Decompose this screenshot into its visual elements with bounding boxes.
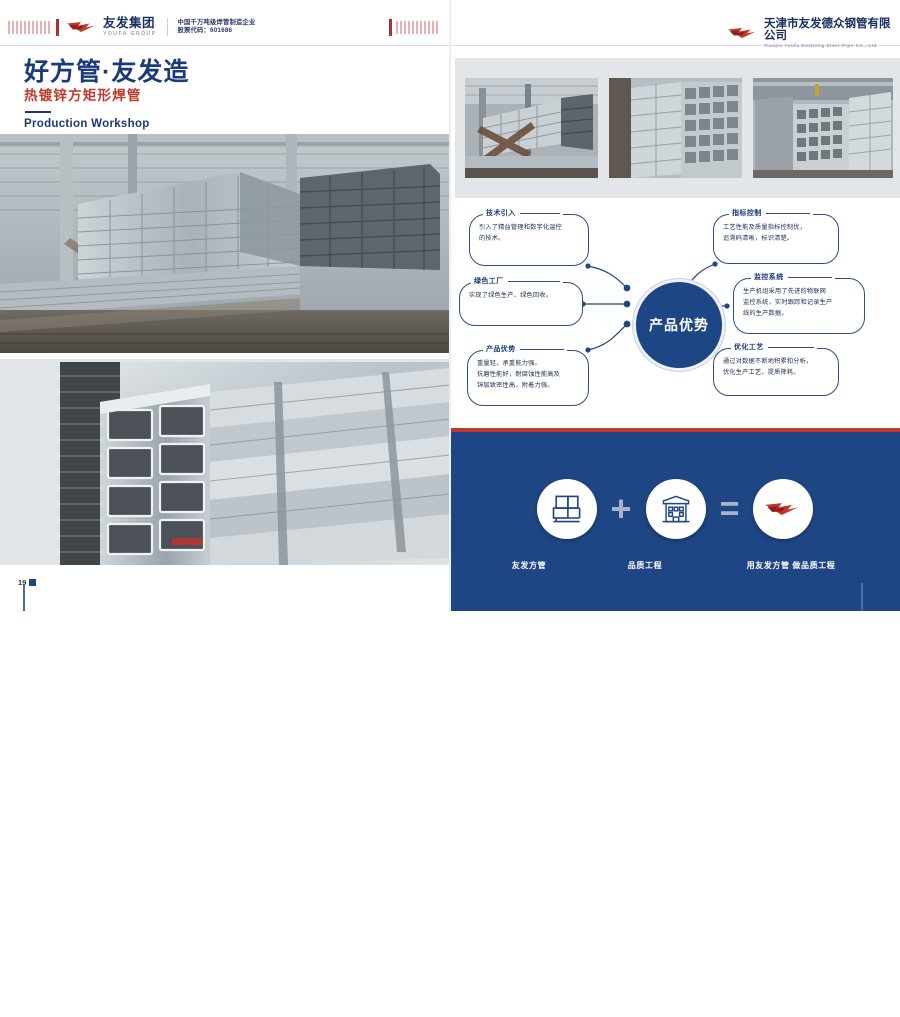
diagram-node-index: 工艺性能及质量指标控制优， 追溯码清晰，标识清楚。 指标控制 xyxy=(713,214,839,264)
swatch-bar-left xyxy=(56,19,59,36)
diagram-node-monitor: 生产机组采用了先进的物联网 监控系统，实时跟踪和记录生产 线的生产数据。 监控系… xyxy=(733,278,865,334)
subsidiary-logo: 天津市友发德众钢管有限公司 Tianjin Youfa Dezhong Stee… xyxy=(727,18,900,49)
youfa-wing-icon xyxy=(66,19,98,35)
caption-rule xyxy=(766,213,810,214)
diagram-node-optimize-caption: 优化工艺 xyxy=(731,342,817,352)
diagram-node-optimize: 通过对数据不断地积累和分析， 优化生产工艺，提质降耗。 优化工艺 xyxy=(713,348,839,396)
caption-rule xyxy=(508,281,560,282)
diagram-node-green-caption: 绿色工厂 xyxy=(471,276,563,286)
youfa-logo-circle xyxy=(753,479,813,539)
header-rule-left xyxy=(0,45,450,46)
page-number-left-marker xyxy=(29,579,36,586)
diagram-node-monitor-body: 生产机组采用了先进的物联网 监控系统，实时跟踪和记录生产 线的生产数据。 xyxy=(733,278,865,334)
diagram-node-advantage-title: 产品优势 xyxy=(486,344,516,354)
page-number-right-stem xyxy=(861,583,863,611)
caption-rule xyxy=(520,213,560,214)
diagram-node-monitor-line-3: 线的生产数据。 xyxy=(743,309,855,320)
diagram-node-advantage-line-3: 锌层致密性高，附着力强。 xyxy=(477,381,579,392)
strip-photo-3 xyxy=(753,78,893,178)
diagram-node-monitor-line-1: 生产机组采用了先进的物联网 xyxy=(743,287,855,298)
headline-primary: 好方管·友发造 xyxy=(24,58,189,86)
spread-spine xyxy=(449,0,451,611)
slogan-caption-row: 友发方管 品质工程 用友发方管 做品质工程 xyxy=(450,560,900,571)
slogan-label-2: 品质工程 xyxy=(615,560,675,571)
left-header: 友发集团 YOUFA GROUP 中国千万吨级焊管制造企业 股票代码：60168… xyxy=(0,0,450,46)
strip-photo-2 xyxy=(609,78,742,178)
diagram-node-optimize-line-1: 通过对数据不断地积累和分析， xyxy=(723,357,829,368)
diagram-node-optimize-title: 优化工艺 xyxy=(734,342,764,352)
product-advantage-diagram: 产品优势 引入了精益管理和数字化温控 的技术。 技术引入 实现了绿色生产、绿色回… xyxy=(455,200,900,422)
main-workshop-photo xyxy=(0,134,450,353)
color-swatch-right xyxy=(396,21,440,34)
tagline-line-2: 股票代码：601686 xyxy=(178,27,256,35)
brand-name-cn: 友发集团 xyxy=(103,17,157,30)
page-number-left-stem xyxy=(23,585,25,611)
headline-rule xyxy=(25,111,51,113)
diagram-node-tech-title: 技术引入 xyxy=(486,208,516,218)
youfa-group-logo: 友发集团 YOUFA GROUP 中国千万吨级焊管制造企业 股票代码：60168… xyxy=(66,17,256,37)
left-page: 友发集团 YOUFA GROUP 中国千万吨级焊管制造企业 股票代码：60168… xyxy=(0,0,450,611)
tagline-line-1: 中国千万吨级焊管制造企业 xyxy=(178,19,256,27)
diagram-node-advantage: 重量轻，承重能力强。 抗磨性能好，耐腐蚀性能高及 锌层致密性高，附着力强。 产品… xyxy=(467,350,589,406)
diagram-node-monitor-line-2: 监控系统，实时跟踪和记录生产 xyxy=(743,298,855,309)
diagram-node-advantage-caption: 产品优势 xyxy=(483,344,567,354)
brand-name-en: YOUFA GROUP xyxy=(103,32,157,37)
logo-divider xyxy=(167,18,168,36)
diagram-node-tech-body: 引入了精益管理和数字化温控 的技术。 xyxy=(469,214,589,266)
diagram-node-advantage-line-2: 抗磨性能好，耐腐蚀性能高及 xyxy=(477,370,579,381)
slogan-band: + = xyxy=(450,432,900,611)
diagram-center-label: 产品优势 xyxy=(649,315,709,335)
diagram-node-index-body: 工艺性能及质量指标控制优， 追溯码清晰，标识清楚。 xyxy=(713,214,839,264)
square-tube-icon-circle xyxy=(537,479,597,539)
diagram-node-index-caption: 指标控制 xyxy=(729,208,813,218)
slogan-label-3: 用友发方管 做品质工程 xyxy=(731,560,851,571)
strip-photo-1 xyxy=(465,78,598,178)
caption-rule xyxy=(520,349,564,350)
diagram-node-tech-caption: 技术引入 xyxy=(483,208,563,218)
headline-secondary: 热镀锌方矩形焊管 xyxy=(24,89,189,104)
building-icon xyxy=(658,491,694,527)
slogan-label-1: 友发方管 xyxy=(499,560,559,571)
diagram-node-green: 实现了绿色生产、绿色回收。 绿色工厂 xyxy=(459,282,583,326)
diagram-node-tech-line-1: 引入了精益管理和数字化温控 xyxy=(479,223,579,234)
diagram-node-tech: 引入了精益管理和数字化温控 的技术。 技术引入 xyxy=(469,214,589,266)
diagram-node-index-title: 指标控制 xyxy=(732,208,762,218)
caption-rule xyxy=(768,347,814,348)
diagram-node-index-line-2: 追溯码清晰，标识清楚。 xyxy=(723,234,829,245)
header-tagline: 中国千万吨级焊管制造企业 股票代码：601686 xyxy=(178,19,256,35)
page-title: 好方管·友发造 热镀锌方矩形焊管 Production Workshop xyxy=(24,58,189,130)
diagram-node-optimize-body: 通过对数据不断地积累和分析， 优化生产工艺，提质降耗。 xyxy=(713,348,839,396)
company-name-cn: 天津市友发德众钢管有限公司 xyxy=(764,18,900,42)
square-tube-icon xyxy=(549,491,585,527)
diagram-node-green-title: 绿色工厂 xyxy=(474,276,504,286)
photo-strip xyxy=(455,58,900,198)
diagram-node-advantage-body: 重量轻，承重能力强。 抗磨性能好，耐腐蚀性能高及 锌层致密性高，附着力强。 xyxy=(467,350,589,406)
company-name-en: Tianjin Youfa Dezhong Steel Pipe Co., Lt… xyxy=(764,43,900,49)
caption-rule xyxy=(788,277,832,278)
diagram-node-tech-line-2: 的技术。 xyxy=(479,234,579,245)
diagram-node-green-body: 实现了绿色生产、绿色回收。 xyxy=(459,282,583,326)
youfa-wing-icon xyxy=(727,25,759,41)
diagram-node-monitor-title: 监控系统 xyxy=(754,272,784,282)
diagram-center-node: 产品优势 xyxy=(633,279,725,371)
bottom-tube-photo xyxy=(60,362,450,565)
headline-english: Production Workshop xyxy=(24,118,189,130)
diagram-node-optimize-line-2: 优化生产工艺，提质降耗。 xyxy=(723,368,829,379)
youfa-wing-icon xyxy=(764,498,802,520)
color-swatch-left xyxy=(8,21,52,34)
diagram-node-index-line-1: 工艺性能及质量指标控制优， xyxy=(723,223,829,234)
swatch-bar-right xyxy=(389,19,392,36)
brochure-spread: 友发集团 YOUFA GROUP 中国千万吨级焊管制造企业 股票代码：60168… xyxy=(0,0,900,611)
slogan-icon-row: + = xyxy=(450,454,900,564)
page-number-left: 19 xyxy=(18,578,36,587)
diagram-node-monitor-caption: 监控系统 xyxy=(751,272,835,282)
diagram-node-advantage-line-1: 重量轻，承重能力强。 xyxy=(477,359,579,370)
diagram-node-green-line-1: 实现了绿色生产、绿色回收。 xyxy=(469,291,573,302)
building-icon-circle xyxy=(646,479,706,539)
